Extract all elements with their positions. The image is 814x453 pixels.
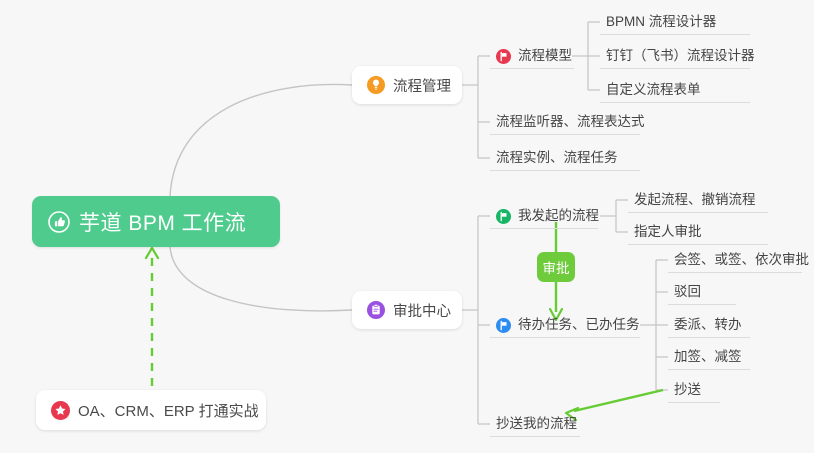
leaf-custom-form[interactable]: 自定义流程表单 xyxy=(600,77,750,103)
branch-label-process-management: 流程管理 xyxy=(393,75,451,96)
node-label-process-model: 流程模型 xyxy=(518,48,572,64)
flag-red-icon xyxy=(496,49,511,64)
cc-flow-arrow xyxy=(566,390,663,420)
leaf-label: 流程监听器、流程表达式 xyxy=(496,114,645,130)
leaf-label: 钉钉（飞书）流程设计器 xyxy=(606,48,755,64)
leaf-label: 会签、或签、依次审批 xyxy=(674,252,809,268)
leaf-instance-task[interactable]: 流程实例、流程任务 xyxy=(490,145,640,171)
leaf-label: 加签、减签 xyxy=(674,349,742,365)
node-label-integration: OA、CRM、ERP 打通实战 xyxy=(78,400,259,421)
leaf-delegate-transfer[interactable]: 委派、转办 xyxy=(668,312,750,338)
leaf-countersign[interactable]: 会签、或签、依次审批 xyxy=(668,247,802,273)
thumbs-up-icon xyxy=(48,211,70,233)
center-node[interactable]: 芋道 BPM 工作流 xyxy=(32,196,280,247)
leaf-label: 自定义流程表单 xyxy=(606,82,701,98)
leaf-carbon-copy[interactable]: 抄送 xyxy=(668,377,720,403)
approval-tag-label: 审批 xyxy=(543,257,570,277)
star-icon xyxy=(51,401,70,420)
leaf-assignee-approval[interactable]: 指定人审批 xyxy=(628,219,768,245)
flag-green-icon xyxy=(496,209,511,224)
leaf-listener-expression[interactable]: 流程监听器、流程表达式 xyxy=(490,109,640,135)
node-label-my-initiated: 我发起的流程 xyxy=(518,208,599,224)
branch-node-process-management[interactable]: 流程管理 xyxy=(352,66,462,104)
leaf-start-cancel-process[interactable]: 发起流程、撤销流程 xyxy=(628,187,768,213)
leaf-bpmn-designer[interactable]: BPMN 流程设计器 xyxy=(600,9,750,35)
leaf-label: 抄送 xyxy=(674,382,701,398)
leaf-label: 发起流程、撤销流程 xyxy=(634,192,756,208)
node-integration-practice[interactable]: OA、CRM、ERP 打通实战 xyxy=(36,390,266,430)
leaf-label: BPMN 流程设计器 xyxy=(606,14,716,30)
node-label-todo-done-tasks: 待办任务、已办任务 xyxy=(518,317,640,333)
leaf-label: 委派、转办 xyxy=(674,317,742,333)
lightbulb-icon xyxy=(367,76,385,94)
leaf-label: 流程实例、流程任务 xyxy=(496,150,618,166)
node-cc-to-me[interactable]: 抄送我的流程 xyxy=(490,411,580,437)
center-node-label: 芋道 BPM 工作流 xyxy=(79,207,246,237)
approval-tag[interactable]: 审批 xyxy=(537,252,575,282)
mindmap-canvas: 芋道 BPM 工作流 流程管理 流程模型 BPMN 流程设计器 钉钉（飞书）流程… xyxy=(0,0,814,453)
branch-label-approval-center: 审批中心 xyxy=(393,300,451,321)
node-process-model[interactable]: 流程模型 xyxy=(490,43,574,69)
node-todo-done-tasks[interactable]: 待办任务、已办任务 xyxy=(490,312,640,338)
branch-node-approval-center[interactable]: 审批中心 xyxy=(352,291,462,329)
flag-blue-icon xyxy=(496,318,511,333)
node-my-initiated-processes[interactable]: 我发起的流程 xyxy=(490,203,598,229)
leaf-label: 指定人审批 xyxy=(634,224,702,240)
leaf-label: 驳回 xyxy=(674,284,701,300)
leaf-label: 抄送我的流程 xyxy=(496,416,577,432)
clipboard-icon xyxy=(367,301,385,319)
leaf-reject[interactable]: 驳回 xyxy=(668,279,736,305)
dashed-arrow-to-center xyxy=(146,248,158,386)
leaf-add-remove-sign[interactable]: 加签、减签 xyxy=(668,344,750,370)
leaf-dingtalk-designer[interactable]: 钉钉（飞书）流程设计器 xyxy=(600,43,750,69)
